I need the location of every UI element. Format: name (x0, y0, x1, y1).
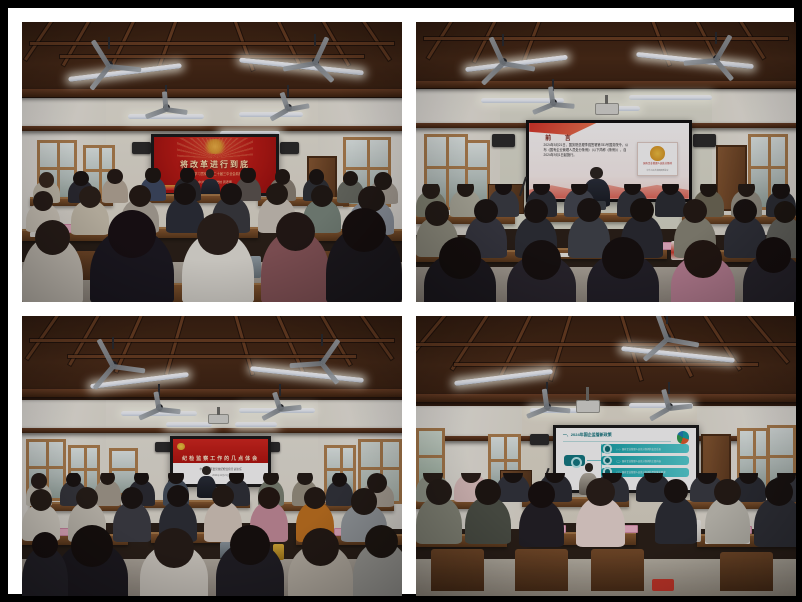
audience-person (416, 497, 462, 544)
secondary-beam (22, 428, 402, 433)
ceiling-fan (71, 347, 155, 381)
audience-person-foreground (261, 231, 329, 302)
audience-person (326, 481, 353, 506)
audience-area (22, 473, 402, 596)
room-scene: 将改革进行到底 ——学习贯彻党的二十届三中全会精神 中共长乐区委党校 周老师 (22, 22, 402, 302)
photo-panel-bottom-right[interactable]: Side view of audience, teal policy diagr… (416, 316, 796, 596)
room-scene: 纪检监察工作的几点体会 中共长乐区委党校纪检监察室 副主任 2024年11月21… (22, 316, 402, 596)
audience-person (655, 189, 685, 217)
slide-title: 纪检监察工作的几点体会 (173, 455, 268, 462)
tube-light (166, 422, 212, 427)
heading-rule (563, 441, 671, 442)
ceiling-fan (515, 392, 580, 420)
diagram-bar: （二）国有企业管理人员处分条例的主要内容 (601, 456, 690, 465)
document-card: 国有企业管理人员处分条例 中华人民共和国国务院令 (637, 142, 677, 176)
audience-person-foreground (182, 232, 254, 302)
photo-panel-bottom-left[interactable]: Wide view of the hall, red banner slide … (22, 316, 402, 596)
audience-person-foreground (587, 253, 659, 302)
audience-person (496, 474, 530, 502)
projector (208, 414, 229, 424)
ceiling-fan (250, 394, 311, 419)
speaker (280, 142, 299, 153)
audience-person-foreground (288, 544, 353, 596)
red-box (652, 579, 675, 591)
slide-heading: 一、2024年国企监管新政策 (563, 432, 612, 438)
secondary-beam (22, 126, 402, 131)
slide-body: 2024年5月21日，国务院总理李强签署第781号国务院令，公布《国有企业管理人… (544, 143, 632, 157)
audience-person (94, 480, 121, 506)
ceiling-fan (128, 394, 189, 419)
party-emblem-icon (199, 139, 231, 154)
audience-area (416, 473, 796, 596)
doc-card-caption: 国有企业管理人员处分条例 (641, 161, 675, 165)
projector (595, 103, 620, 115)
gable-panelling (22, 95, 402, 129)
audience-person-foreground (507, 255, 575, 302)
national-emblem-seal-icon (650, 146, 665, 161)
ceiling-fan (136, 95, 197, 120)
diagram-root-node (564, 455, 585, 466)
chair (515, 549, 568, 591)
slide-heading: 前 言 (545, 133, 577, 142)
audience-person (705, 497, 751, 544)
main-beam (22, 89, 402, 97)
speaker (693, 134, 716, 147)
doc-card-subcaption: 中华人民共和国国务院令 (641, 169, 675, 172)
photo-panel-top-left[interactable]: Lecture hall, full auditorium, red title… (22, 22, 402, 302)
ceiling-fan (629, 322, 705, 353)
audience-person (655, 497, 697, 544)
audience-person-foreground (671, 255, 736, 302)
diagram-connector (587, 460, 601, 461)
room-scene: 一、2024年国企监管新政策 （一）国有企业管理人员处分条例的出台背景 (416, 316, 796, 596)
ceiling-fan (636, 392, 701, 420)
slide-line-1: 中共长乐区委党校纪检监察室 副主任 (173, 467, 268, 471)
main-beam (22, 389, 402, 397)
tube-light (629, 95, 713, 100)
audience-person (519, 500, 565, 547)
speaker (530, 434, 549, 445)
chair (431, 549, 484, 591)
ceiling-fan (280, 344, 364, 378)
bullet-icon (603, 444, 613, 454)
ceiling-fan (462, 44, 546, 78)
speaker (492, 134, 515, 147)
room-scene: 前 言 2024年5月21日，国务院总理李强签署第781号国务院令，公布《国有企… (416, 22, 796, 302)
audience-person-foreground (22, 547, 68, 596)
audience-person (754, 497, 796, 546)
ceiling-fan (258, 95, 319, 120)
audience-area (416, 184, 796, 302)
audience-person-foreground (140, 544, 208, 596)
audience-person-foreground (90, 229, 174, 302)
bullet-icon (603, 456, 613, 466)
ceiling-fan (68, 47, 152, 81)
chair (591, 549, 644, 591)
main-beam (416, 394, 796, 402)
diagram-bar-label: （一）国有企业管理人员处分条例的出台背景 (615, 447, 687, 451)
audience-person-foreground (22, 237, 83, 302)
diagram-bar: （一）国有企业管理人员处分条例的出台背景 (601, 444, 690, 453)
roof-truss (416, 316, 796, 406)
audience-person (71, 200, 109, 235)
tube-light (235, 422, 277, 427)
photo-panel-top-right[interactable]: Speaker at front, white preface slide di… (416, 22, 796, 302)
ceiling-fan (522, 89, 583, 114)
diagram-bar-label: （二）国有企业管理人员处分条例的主要内容 (615, 459, 687, 463)
collage-grid: Lecture hall, full auditorium, red title… (22, 22, 796, 596)
collage-title: Training session photo collage (8, 8, 9, 9)
audience-area (22, 168, 402, 302)
audience-person (465, 497, 511, 544)
speaker (132, 142, 151, 153)
party-emblem-badge-icon (177, 443, 185, 451)
audience-person (576, 497, 625, 546)
audience-person (113, 502, 151, 541)
collage-frame: Training session photo collage Lecture h… (0, 0, 802, 602)
chair (720, 552, 773, 591)
projector (576, 400, 601, 413)
audience-person (102, 178, 129, 202)
ceiling-fan (273, 44, 357, 78)
ceiling-fan (674, 42, 758, 76)
organization-logo-icon (677, 431, 690, 444)
audience-person-foreground (353, 542, 402, 596)
main-beam (416, 81, 796, 88)
